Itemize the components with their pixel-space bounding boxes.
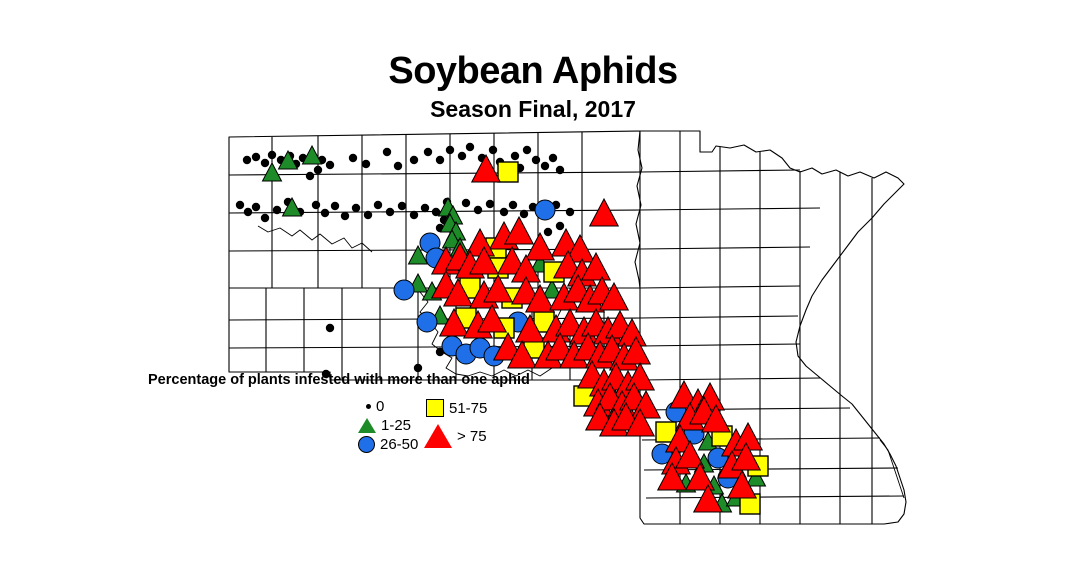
marker-zero bbox=[541, 162, 549, 170]
marker-zero bbox=[398, 202, 406, 210]
marker-zero bbox=[268, 151, 276, 159]
marker-mid bbox=[535, 200, 555, 220]
marker-zero bbox=[374, 201, 382, 209]
soybean-aphid-map-page: Soybean Aphids Season Final, 2017 bbox=[0, 0, 1066, 587]
small-black-dot-icon bbox=[366, 404, 371, 409]
marker-zero bbox=[244, 208, 252, 216]
marker-zero bbox=[410, 211, 418, 219]
legend-item-0: 0 bbox=[366, 398, 384, 415]
marker-zero bbox=[352, 204, 360, 212]
yellow-square-icon bbox=[426, 399, 444, 417]
marker-zero bbox=[500, 208, 508, 216]
marker-zero bbox=[306, 172, 314, 180]
marker-zero bbox=[414, 364, 422, 372]
marker-zero bbox=[511, 152, 519, 160]
marker-zero bbox=[312, 201, 320, 209]
legend-item-1: 1-25 bbox=[358, 417, 411, 434]
marker-zero bbox=[556, 166, 564, 174]
marker-zero bbox=[261, 214, 269, 222]
data-markers-layer bbox=[236, 143, 768, 514]
legend-label-3: 51-75 bbox=[449, 400, 487, 417]
marker-zero bbox=[243, 156, 251, 164]
marker-zero bbox=[252, 203, 260, 211]
marker-high bbox=[498, 162, 518, 182]
blue-circle-icon bbox=[358, 436, 375, 453]
legend-item-4: > 75 bbox=[424, 424, 487, 448]
legend: 0 1-25 26-50 51-75 > 75 bbox=[358, 398, 558, 454]
marker-zero bbox=[520, 210, 528, 218]
marker-zero bbox=[331, 202, 339, 210]
marker-zero bbox=[410, 156, 418, 164]
marker-veryhigh bbox=[590, 199, 619, 226]
marker-zero bbox=[458, 152, 466, 160]
marker-zero bbox=[466, 143, 474, 151]
marker-zero bbox=[326, 324, 334, 332]
marker-zero bbox=[462, 199, 470, 207]
marker-zero bbox=[436, 156, 444, 164]
legend-label-1: 1-25 bbox=[381, 417, 411, 434]
marker-zero bbox=[394, 162, 402, 170]
marker-zero bbox=[326, 161, 334, 169]
marker-zero bbox=[261, 159, 269, 167]
marker-zero bbox=[362, 160, 370, 168]
marker-zero bbox=[544, 228, 552, 236]
legend-item-3: 51-75 bbox=[426, 399, 487, 417]
map-canvas bbox=[0, 0, 1066, 587]
marker-zero bbox=[273, 206, 281, 214]
marker-zero bbox=[566, 208, 574, 216]
legend-item-2: 26-50 bbox=[358, 436, 418, 453]
marker-zero bbox=[474, 206, 482, 214]
green-triangle-icon bbox=[358, 418, 376, 433]
red-triangle-icon bbox=[424, 424, 452, 448]
marker-zero bbox=[252, 153, 260, 161]
map-svg bbox=[0, 0, 1066, 587]
marker-zero bbox=[314, 166, 322, 174]
marker-mid bbox=[394, 280, 414, 300]
marker-zero bbox=[489, 146, 497, 154]
marker-mid bbox=[417, 312, 437, 332]
marker-zero bbox=[341, 212, 349, 220]
marker-veryhigh bbox=[472, 155, 501, 182]
marker-zero bbox=[446, 146, 454, 154]
marker-zero bbox=[321, 209, 329, 217]
marker-zero bbox=[523, 146, 531, 154]
marker-zero bbox=[236, 201, 244, 209]
marker-zero bbox=[556, 222, 564, 230]
legend-label-0: 0 bbox=[376, 398, 384, 415]
legend-label-4: > 75 bbox=[457, 428, 487, 445]
legend-caption: Percentage of plants infested with more … bbox=[148, 372, 530, 388]
marker-zero bbox=[364, 211, 372, 219]
marker-zero bbox=[383, 148, 391, 156]
marker-zero bbox=[549, 154, 557, 162]
marker-zero bbox=[386, 208, 394, 216]
marker-zero bbox=[486, 200, 494, 208]
marker-zero bbox=[421, 204, 429, 212]
marker-zero bbox=[509, 201, 517, 209]
legend-label-2: 26-50 bbox=[380, 436, 418, 453]
marker-zero bbox=[349, 154, 357, 162]
marker-zero bbox=[424, 148, 432, 156]
marker-zero bbox=[532, 156, 540, 164]
